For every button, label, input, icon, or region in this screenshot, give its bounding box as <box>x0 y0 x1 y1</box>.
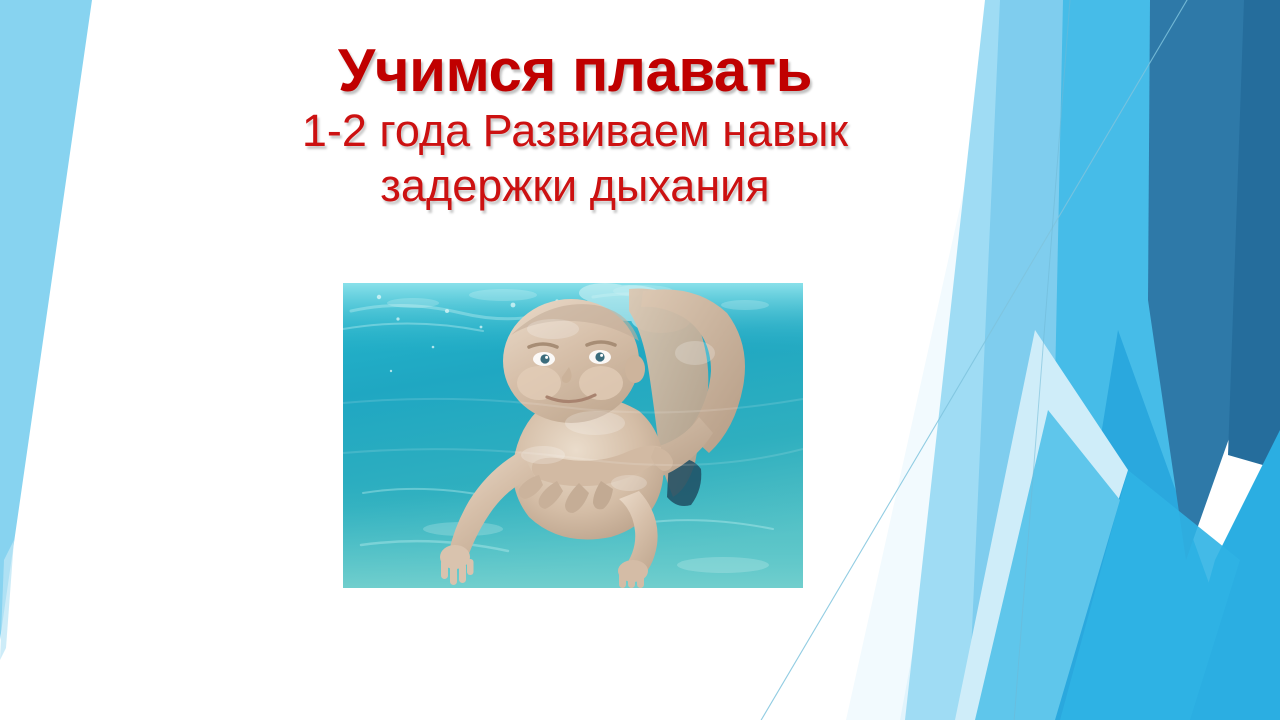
facet-right-medium <box>1055 330 1215 720</box>
baby-hand-right <box>618 560 648 588</box>
facet-lower-sky <box>975 410 1120 720</box>
presentation-slide: Учимся плавать 1-2 года Развиваем навык … <box>0 0 1280 720</box>
facet-right-lower-bright <box>1060 470 1240 720</box>
facet-right-steel <box>1148 0 1258 560</box>
facet-right-lower-cyan <box>1170 430 1280 720</box>
slide-title-line2: 1-2 года Развиваем навык <box>0 108 1150 155</box>
underwater-baby-photo-artwork <box>343 283 803 588</box>
slide-title-main: Учимся плавать <box>0 40 1150 102</box>
slide-title-block: Учимся плавать 1-2 года Развиваем навык … <box>0 40 1150 210</box>
slide-title-line3: задержки дыхания <box>0 163 1150 210</box>
facet-right-deep <box>1228 0 1280 470</box>
facet-left-wedge-tail <box>0 540 14 660</box>
underwater-baby-photo <box>343 283 803 588</box>
facet-lower-pale <box>955 330 1128 720</box>
